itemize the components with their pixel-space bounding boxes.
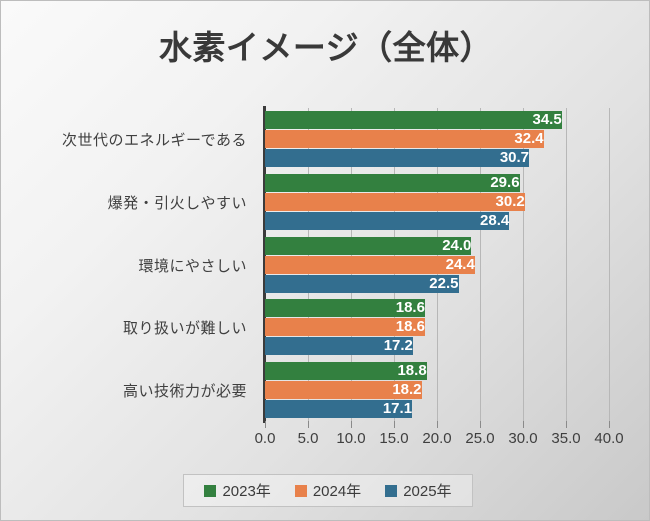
bar-value-label: 18.6 <box>265 299 430 317</box>
bar-row[interactable]: 24.4 <box>265 256 609 274</box>
x-axis-tick-mark <box>566 421 567 428</box>
bar-value-label: 28.4 <box>265 212 514 230</box>
bar-value-label: 18.6 <box>265 318 430 336</box>
bar-group: 18.818.217.1 <box>265 362 609 419</box>
bar-value-label: 17.1 <box>265 400 417 418</box>
legend-item-2025年[interactable]: 2025年 <box>385 480 451 501</box>
bar-group: 24.024.422.5 <box>265 237 609 294</box>
x-axis-tick-label: 20.0 <box>422 430 451 447</box>
bar-row[interactable]: 24.0 <box>265 237 609 255</box>
x-axis-tick-mark <box>609 421 610 428</box>
bar-row[interactable]: 28.4 <box>265 212 609 230</box>
x-axis-tick-mark <box>308 421 309 428</box>
x-axis-tick-label: 15.0 <box>379 430 408 447</box>
x-axis-tick-mark <box>265 421 266 428</box>
chart-legend[interactable]: 2023年2024年2025年 <box>183 474 473 507</box>
x-axis-tick-label: 30.0 <box>508 430 537 447</box>
bar-row[interactable]: 18.2 <box>265 381 609 399</box>
x-axis-tick-label: 40.0 <box>594 430 623 447</box>
plot-area: 34.532.430.729.630.228.424.024.422.518.6… <box>265 108 609 421</box>
x-axis-tick-label: 0.0 <box>255 430 276 447</box>
bar-row[interactable]: 29.6 <box>265 174 609 192</box>
bar-value-label: 24.4 <box>265 256 480 274</box>
bar-row[interactable]: 30.7 <box>265 149 609 167</box>
bar-row[interactable]: 30.2 <box>265 193 609 211</box>
legend-item-2024年[interactable]: 2024年 <box>295 480 361 501</box>
bar-group: 18.618.617.2 <box>265 299 609 356</box>
x-axis-tick-mark <box>351 421 352 428</box>
legend-swatch-icon <box>385 485 397 497</box>
legend-item-2023年[interactable]: 2023年 <box>204 480 270 501</box>
bar-row[interactable]: 17.1 <box>265 400 609 418</box>
x-axis-tick-mark <box>523 421 524 428</box>
gridline <box>609 108 610 421</box>
category-label: 爆発・引火しやすい <box>108 192 247 213</box>
legend-label: 2024年 <box>313 480 361 501</box>
chart-title: 水素イメージ（全体） <box>1 21 650 69</box>
x-axis-tick-label: 5.0 <box>298 430 319 447</box>
bar-row[interactable]: 32.4 <box>265 130 609 148</box>
bar-value-label: 18.8 <box>265 362 432 380</box>
legend-swatch-icon <box>204 485 216 497</box>
x-axis-tick-mark <box>480 421 481 428</box>
legend-label: 2023年 <box>222 480 270 501</box>
bar-group: 34.532.430.7 <box>265 111 609 168</box>
category-label: 高い技術力が必要 <box>123 380 247 401</box>
bar-value-label: 24.0 <box>265 237 476 255</box>
bar-value-label: 29.6 <box>265 174 525 192</box>
bar-row[interactable]: 18.6 <box>265 318 609 336</box>
bar-value-label: 17.2 <box>265 337 418 355</box>
category-label: 取り扱いが難しい <box>123 317 247 338</box>
x-axis-tick-mark <box>394 421 395 428</box>
x-axis-tick-mark <box>437 421 438 428</box>
x-axis-tick-label: 35.0 <box>551 430 580 447</box>
bar-value-label: 34.5 <box>265 111 567 129</box>
legend-label: 2025年 <box>403 480 451 501</box>
bar-value-label: 32.4 <box>265 130 549 148</box>
bar-row[interactable]: 17.2 <box>265 337 609 355</box>
x-axis-tick-label: 25.0 <box>465 430 494 447</box>
bar-group: 29.630.228.4 <box>265 174 609 231</box>
category-label: 環境にやさしい <box>138 255 247 276</box>
category-label: 次世代のエネルギーである <box>62 129 247 150</box>
bar-row[interactable]: 18.8 <box>265 362 609 380</box>
x-axis-tick-label: 10.0 <box>336 430 365 447</box>
legend-swatch-icon <box>295 485 307 497</box>
bar-row[interactable]: 18.6 <box>265 299 609 317</box>
bar-value-label: 18.2 <box>265 381 427 399</box>
bar-row[interactable]: 22.5 <box>265 275 609 293</box>
bar-value-label: 30.7 <box>265 149 534 167</box>
bar-value-label: 22.5 <box>265 275 464 293</box>
bar-value-label: 30.2 <box>265 193 530 211</box>
bar-row[interactable]: 34.5 <box>265 111 609 129</box>
chart-card: 水素イメージ（全体） 34.532.430.729.630.228.424.02… <box>0 0 650 521</box>
